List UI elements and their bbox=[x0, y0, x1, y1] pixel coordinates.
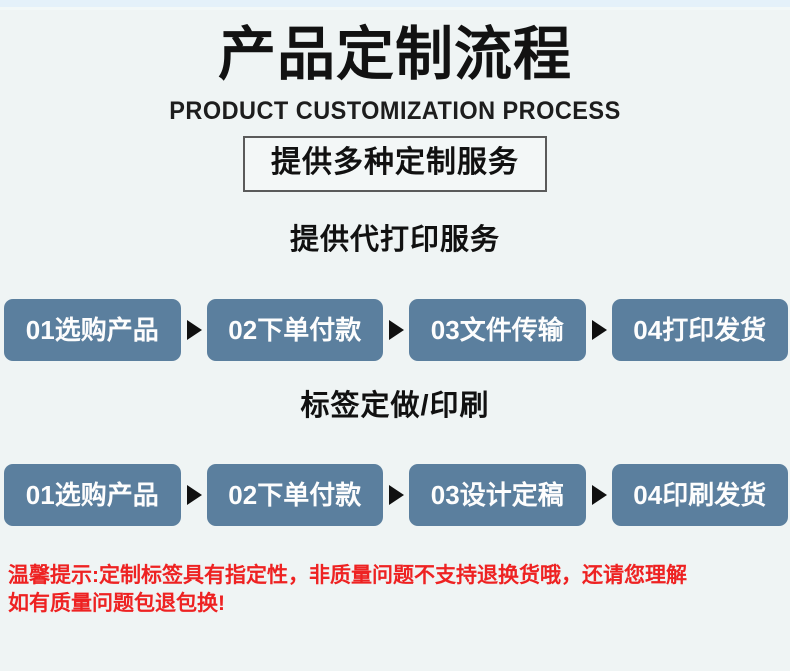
notice-line-1: 温馨提示:定制标签具有指定性，非质量问题不支持退换货哦，还请您理解 bbox=[8, 562, 784, 590]
top-accent-strip-secondary bbox=[0, 7, 790, 10]
notice-text: 温馨提示:定制标签具有指定性，非质量问题不支持退换货哦，还请您理解 如有质量问题… bbox=[8, 562, 784, 618]
step-label: 04印刷发货 bbox=[633, 480, 766, 510]
step-label: 03文件传输 bbox=[431, 315, 564, 345]
section-heading-label-printing: 标签定做/印刷 bbox=[0, 388, 790, 424]
product-customization-process-banner: 产品定制流程 PRODUCT CUSTOMIZATION PROCESS 提供多… bbox=[0, 0, 790, 671]
step-label: 02下单付款 bbox=[228, 315, 361, 345]
top-accent-strip bbox=[0, 0, 790, 7]
step-label: 02下单付款 bbox=[228, 480, 361, 510]
step-box-2[interactable]: 02下单付款 bbox=[207, 464, 384, 526]
triangle-right-icon bbox=[181, 484, 207, 506]
notice-line-2: 如有质量问题包退包换! bbox=[8, 590, 784, 618]
step-box-4[interactable]: 04打印发货 bbox=[612, 299, 789, 361]
page-title: 产品定制流程 bbox=[0, 22, 790, 88]
tagline-box: 提供多种定制服务 bbox=[243, 136, 547, 192]
step-box-1[interactable]: 01选购产品 bbox=[4, 299, 181, 361]
section-heading-printing-service: 提供代打印服务 bbox=[0, 222, 790, 258]
triangle-right-icon bbox=[586, 484, 612, 506]
triangle-right-icon bbox=[586, 319, 612, 341]
step-box-4[interactable]: 04印刷发货 bbox=[612, 464, 789, 526]
step-label: 03设计定稿 bbox=[431, 480, 564, 510]
step-box-3[interactable]: 03设计定稿 bbox=[409, 464, 586, 526]
process-flow-row-printing: 01选购产品 02下单付款 03文件传输 04打印发货 bbox=[4, 299, 788, 361]
step-box-3[interactable]: 03文件传输 bbox=[409, 299, 586, 361]
triangle-right-icon bbox=[383, 319, 409, 341]
process-flow-row-label: 01选购产品 02下单付款 03设计定稿 04印刷发货 bbox=[4, 464, 788, 526]
step-label: 04打印发货 bbox=[633, 315, 766, 345]
triangle-right-icon bbox=[181, 319, 207, 341]
step-label: 01选购产品 bbox=[26, 315, 159, 345]
tagline-container: 提供多种定制服务 bbox=[0, 136, 790, 192]
step-label: 01选购产品 bbox=[26, 480, 159, 510]
step-box-1[interactable]: 01选购产品 bbox=[4, 464, 181, 526]
step-box-2[interactable]: 02下单付款 bbox=[207, 299, 384, 361]
page-subtitle-english: PRODUCT CUSTOMIZATION PROCESS bbox=[24, 96, 767, 126]
triangle-right-icon bbox=[383, 484, 409, 506]
